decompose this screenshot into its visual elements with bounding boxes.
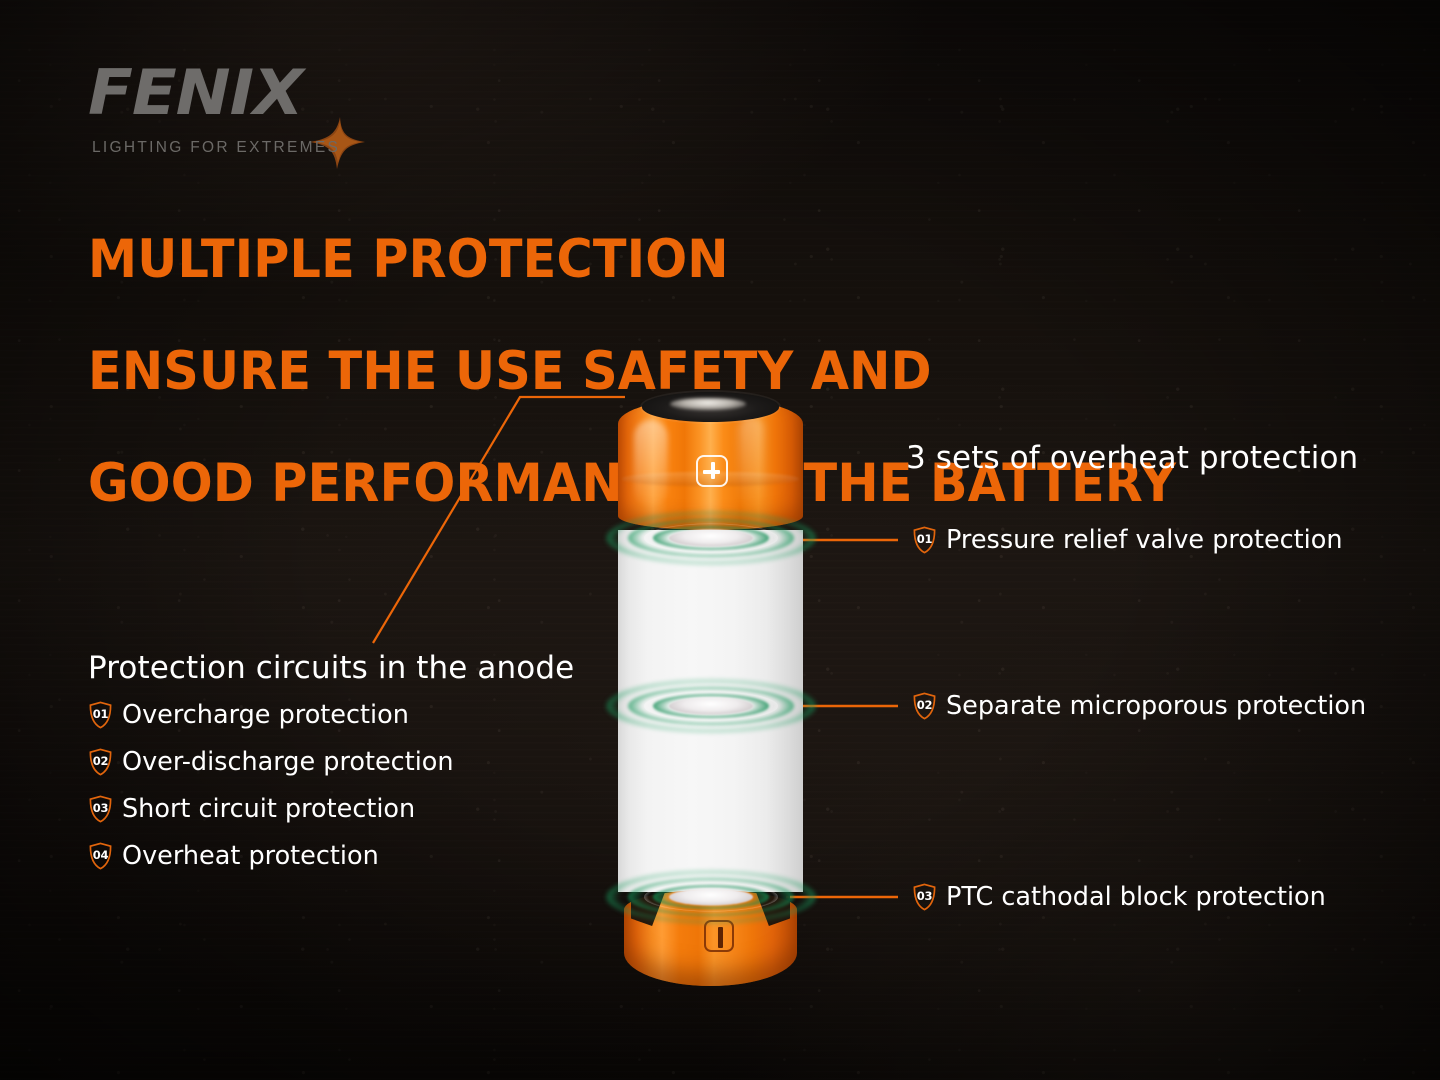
base-notch-left: [631, 892, 665, 926]
logo-wordmark: FENIX: [88, 62, 303, 124]
shield-badge-number: 04: [88, 842, 113, 870]
shield-badge-icon: 03: [88, 795, 113, 823]
battery-body: [618, 530, 803, 892]
right-item-label: PTC cathodal block protection: [946, 882, 1326, 912]
shield-badge-icon: 02: [88, 748, 113, 776]
shield-badge-icon: 01: [912, 526, 937, 554]
cap-gloss-highlight-2: [738, 416, 764, 508]
plus-terminal-icon: [696, 455, 728, 487]
shield-badge-icon: 02: [912, 692, 937, 720]
top-terminal-shine: [670, 398, 746, 410]
left-item-label: Over-discharge protection: [122, 747, 454, 777]
logo-tagline: LIGHTING FOR EXTREMES: [92, 139, 340, 157]
shield-badge-number: 03: [88, 795, 113, 823]
left-item-label: Overheat protection: [122, 841, 379, 871]
shield-badge-number: 03: [912, 883, 937, 911]
shield-badge-icon: 01: [88, 701, 113, 729]
battery-negative-base: [624, 890, 797, 986]
right-item-label: Separate microporous protection: [946, 691, 1366, 721]
shield-badge-number: 01: [912, 526, 937, 554]
right-item-label: Pressure relief valve protection: [946, 525, 1343, 555]
left-item-overheat: 04 Overheat protection: [88, 841, 574, 871]
left-callout-panel: Protection circuits in the anode 01 Over…: [88, 650, 574, 888]
shield-badge-icon: 03: [912, 883, 937, 911]
left-item-label: Overcharge protection: [122, 700, 409, 730]
shield-badge-number: 02: [88, 748, 113, 776]
minus-terminal-icon: [704, 920, 734, 952]
shield-badge-number: 02: [912, 692, 937, 720]
fenix-logo: FENIX LIGHTING FOR EXTREMES: [88, 62, 418, 154]
cap-gloss-highlight: [634, 420, 668, 506]
right-item-separate-microporous: 02 Separate microporous protection: [912, 691, 1366, 721]
page-title-line-1: MULTIPLE PROTECTION: [88, 232, 1204, 288]
poster-canvas: FENIX LIGHTING FOR EXTREMES MULTIPLE PRO…: [0, 0, 1440, 1080]
right-item-ptc-cathodal-block: 03 PTC cathodal block protection: [912, 882, 1326, 912]
right-item-pressure-relief-valve: 01 Pressure relief valve protection: [912, 525, 1343, 555]
base-notch-right: [756, 892, 790, 926]
right-panel-title: 3 sets of overheat protection: [906, 440, 1358, 476]
left-item-overcharge: 01 Overcharge protection: [88, 700, 574, 730]
shield-badge-number: 01: [88, 701, 113, 729]
left-item-over-discharge: 02 Over-discharge protection: [88, 747, 574, 777]
left-item-label: Short circuit protection: [122, 794, 415, 824]
left-item-short-circuit: 03 Short circuit protection: [88, 794, 574, 824]
shield-badge-icon: 04: [88, 842, 113, 870]
left-panel-title: Protection circuits in the anode: [88, 650, 574, 686]
battery-illustration: [618, 392, 803, 990]
